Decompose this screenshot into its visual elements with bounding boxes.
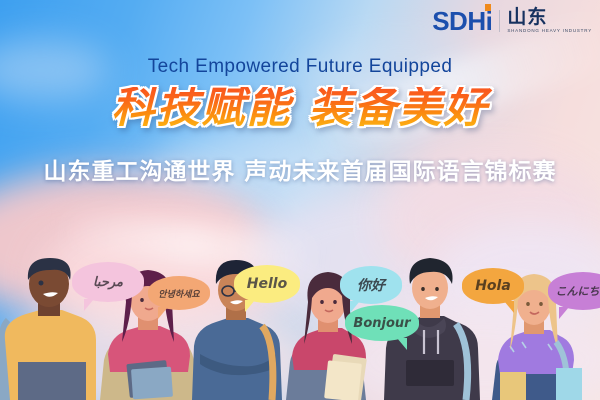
- speech-bubble-korean: 안녕하세요: [148, 276, 210, 310]
- logo-wordmark: SDHi: [432, 8, 492, 34]
- chinese-title: 科技赋能 装备美好: [0, 87, 600, 130]
- logo-cn-main: 山东: [507, 8, 592, 27]
- logo-dot-icon: [485, 4, 491, 11]
- speech-bubble-arabic: مرحبا: [72, 262, 144, 302]
- speech-bubble-english: Hello: [234, 265, 300, 303]
- speech-bubble-spanish: Hola: [462, 268, 524, 304]
- sdhi-logo[interactable]: SDHi 山东 SHANDONG HEAVY INDUSTRY: [432, 8, 592, 34]
- speech-bubble-french: Bonjour: [345, 305, 419, 341]
- promo-banner: SDHi 山东 SHANDONG HEAVY INDUSTRY Tech Emp…: [0, 0, 600, 400]
- chinese-subtitle: 山东重工沟通世界 声动未来首届国际语言锦标赛: [0, 152, 600, 186]
- logo-divider: [499, 10, 500, 32]
- english-tagline: Tech Empowered Future Equipped: [0, 56, 600, 78]
- logo-mark-text: SDHi: [432, 6, 492, 36]
- logo-chinese-name: 山东 SHANDONG HEAVY INDUSTRY: [507, 8, 592, 34]
- speech-bubble-chinese: 你好: [340, 266, 402, 304]
- logo-cn-sub: SHANDONG HEAVY INDUSTRY: [507, 29, 592, 34]
